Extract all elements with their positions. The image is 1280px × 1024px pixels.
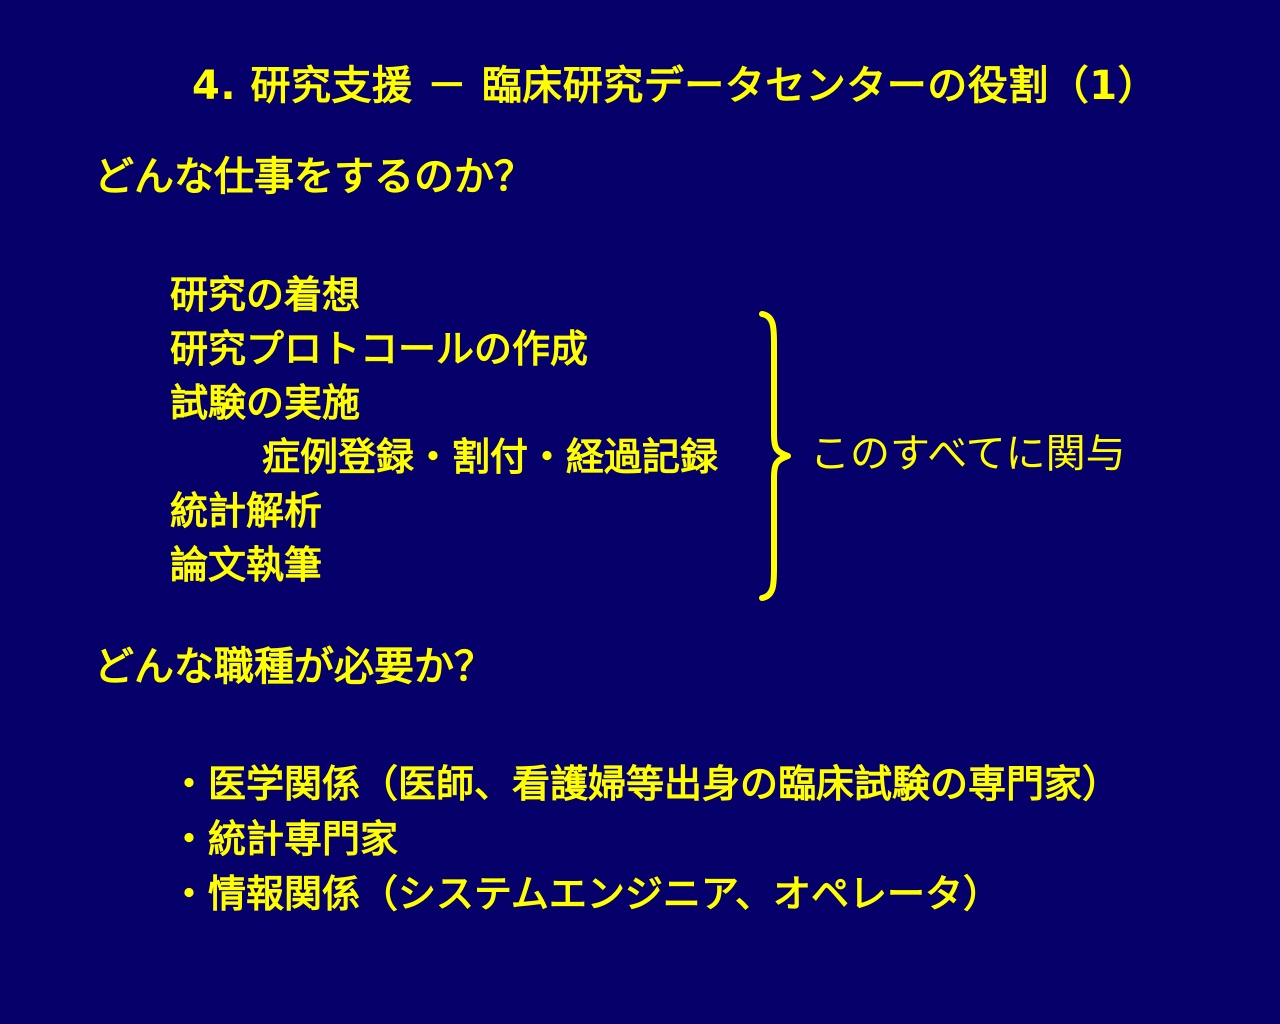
presentation-slide: 4. 研究支援 － 臨床研究データセンターの役割（1） どんな仕事をするのか？ …	[0, 0, 1280, 1024]
brace-annotation-label: このすべてに関与	[810, 434, 1126, 474]
right-curly-brace-icon	[758, 310, 804, 602]
task-list-item: 研究の着想	[170, 268, 790, 322]
role-list-item: ・統計専門家	[170, 812, 1220, 867]
roles-list: ・医学関係（医師、看護婦等出身の臨床試験の専門家）・統計専門家・情報関係（システ…	[170, 757, 1220, 922]
task-list: 研究の着想研究プロトコールの作成試験の実施症例登録・割付・経過記録統計解析論文執…	[170, 268, 790, 592]
task-list-item: 研究プロトコールの作成	[170, 322, 790, 376]
section-heading-work: どんな仕事をするのか？	[94, 157, 534, 197]
task-list-item: 論文執筆	[170, 538, 790, 592]
section-heading-roles: どんな職種が必要か？	[94, 647, 494, 687]
role-list-item: ・医学関係（医師、看護婦等出身の臨床試験の専門家）	[170, 757, 1220, 812]
role-list-item: ・情報関係（システムエンジニア、オペレータ）	[170, 867, 1220, 922]
slide-title: 4. 研究支援 － 臨床研究データセンターの役割（1）	[192, 66, 1158, 106]
task-list-item: 統計解析	[170, 484, 790, 538]
task-list-item: 試験の実施	[170, 376, 790, 430]
task-list-item: 症例登録・割付・経過記録	[170, 430, 790, 484]
